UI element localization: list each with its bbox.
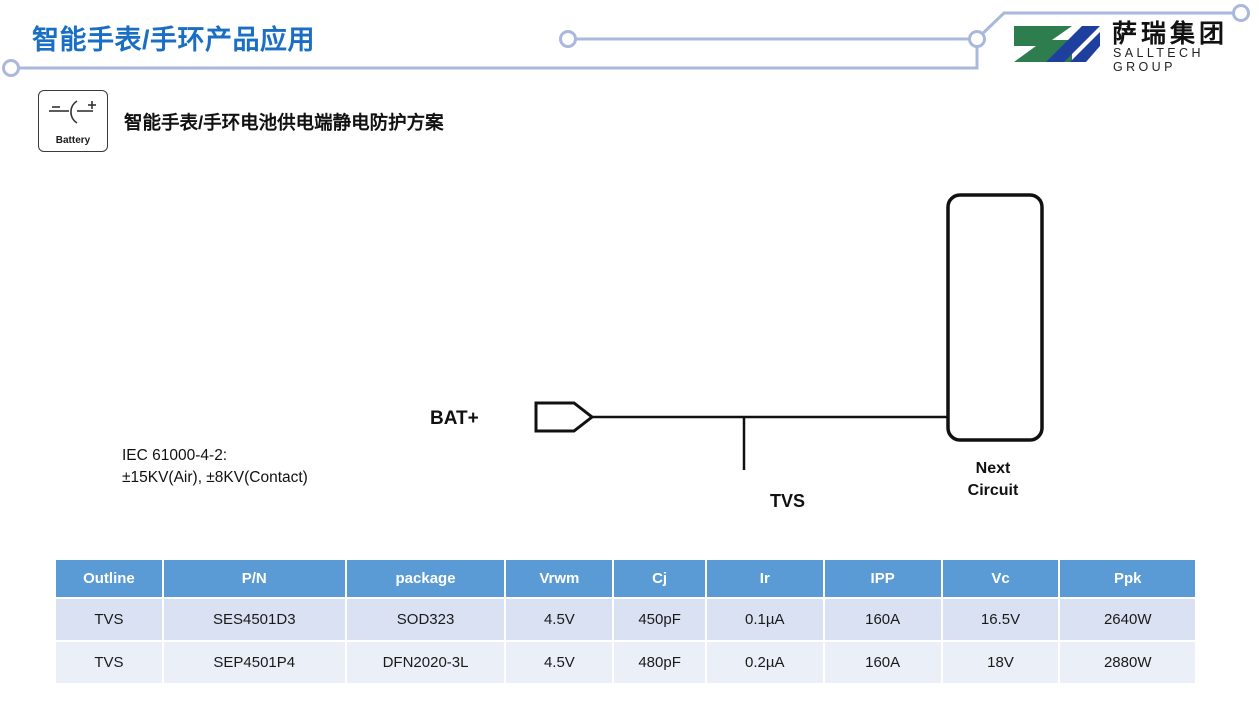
logo-mark-icon [1014, 26, 1100, 62]
col-header-pn: P/N [163, 560, 346, 598]
col-header-ir: Ir [706, 560, 824, 598]
circuit-diagram: BAT+ TVS GND Next Circuit IEC 61000-4-2:… [0, 170, 1259, 470]
spec-table: Outline P/N package Vrwm Cj Ir IPP Vc Pp… [56, 560, 1195, 685]
cell-cj: 450pF [613, 598, 706, 641]
cell-ipp: 160A [824, 641, 942, 684]
next-circuit-block [948, 195, 1042, 440]
cell-ir: 0.2µA [706, 641, 824, 684]
col-header-package: package [346, 560, 506, 598]
cell-vrwm: 4.5V [505, 598, 613, 641]
col-header-outline: Outline [56, 560, 163, 598]
cell-ir: 0.1µA [706, 598, 824, 641]
cell-vc: 16.5V [942, 598, 1060, 641]
cell-cj: 480pF [613, 641, 706, 684]
table-header-row: Outline P/N package Vrwm Cj Ir IPP Vc Pp… [56, 560, 1195, 598]
table-row: TVS SES4501D3 SOD323 4.5V 450pF 0.1µA 16… [56, 598, 1195, 641]
tvs-label: TVS [770, 491, 805, 512]
brand-logo: 萨瑞集团 SALLTECH GROUP [1008, 16, 1248, 72]
battery-badge-label: Battery [39, 135, 107, 146]
iec-standard-note: IEC 61000-4-2: ±15KV(Air), ±8KV(Contact) [122, 445, 308, 490]
battery-badge: Battery [38, 90, 108, 152]
next-circuit-label: Next Circuit [950, 458, 1036, 501]
cell-pn: SES4501D3 [163, 598, 346, 641]
cell-ppk: 2880W [1059, 641, 1195, 684]
cell-vc: 18V [942, 641, 1060, 684]
bat-connector-icon [536, 403, 592, 431]
col-header-ppk: Ppk [1059, 560, 1195, 598]
cell-outline: TVS [56, 598, 163, 641]
deco-node-left [4, 61, 19, 76]
cell-package: DFN2020-3L [346, 641, 506, 684]
page-title: 智能手表/手环产品应用 [32, 18, 315, 57]
table-row: TVS SEP4501P4 DFN2020-3L 4.5V 480pF 0.2µ… [56, 641, 1195, 684]
cell-pn: SEP4501P4 [163, 641, 346, 684]
bat-label: BAT+ [430, 408, 479, 430]
col-header-ipp: IPP [824, 560, 942, 598]
brand-name-en: SALLTECH GROUP [1113, 46, 1248, 74]
col-header-vrwm: Vrwm [505, 560, 613, 598]
col-header-vc: Vc [942, 560, 1060, 598]
battery-symbol-icon [43, 95, 103, 131]
deco-node-middle [561, 32, 576, 47]
cell-ppk: 2640W [1059, 598, 1195, 641]
cell-ipp: 160A [824, 598, 942, 641]
deco-node-junction [970, 32, 985, 47]
brand-name-cn: 萨瑞集团 [1112, 14, 1228, 50]
cell-outline: TVS [56, 641, 163, 684]
section-title: 智能手表/手环电池供电端静电防护方案 [124, 109, 444, 135]
cell-vrwm: 4.5V [505, 641, 613, 684]
col-header-cj: Cj [613, 560, 706, 598]
cell-package: SOD323 [346, 598, 506, 641]
